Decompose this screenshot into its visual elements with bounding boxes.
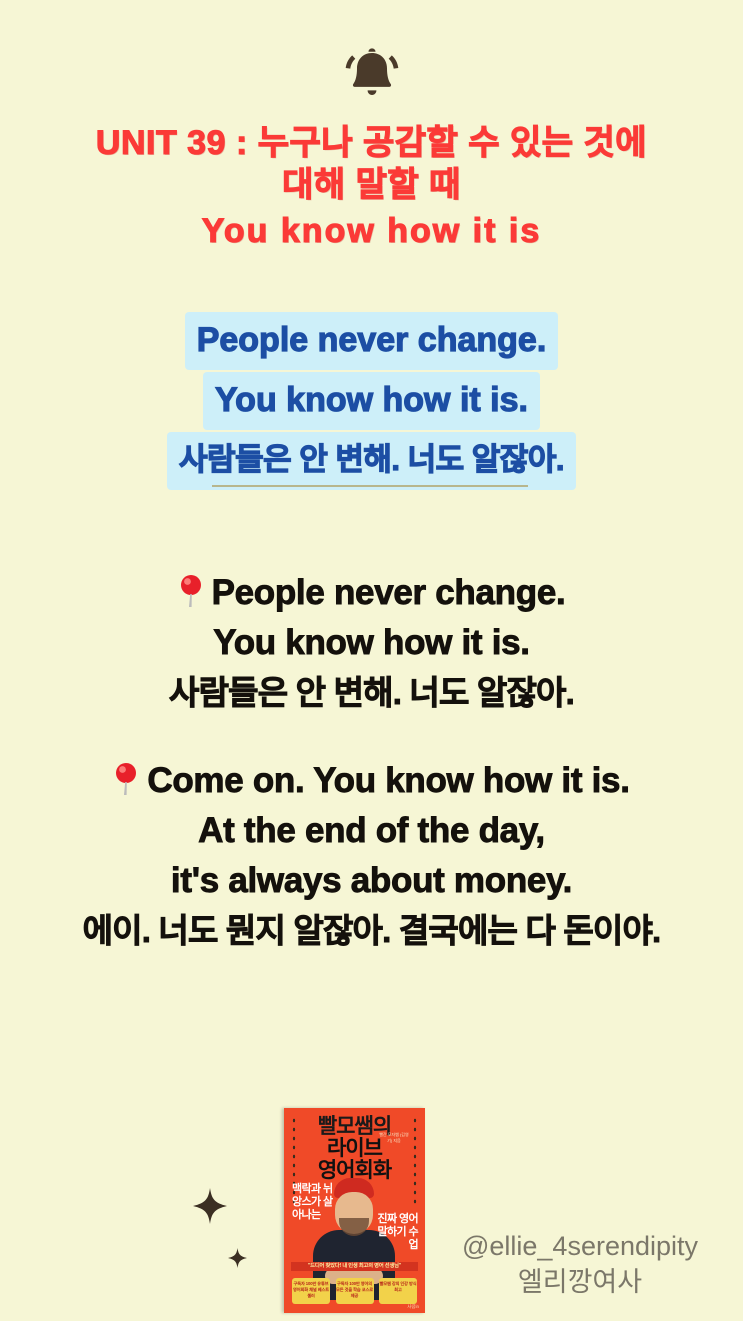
example-1-korean: 사람들은 안 변해. 너도 알잖아. [0,668,743,718]
example-1-line-2: You know how it is. [0,618,743,668]
book-title: 빨모쌤의 라이브 영어회화 [284,1116,425,1182]
book-badge: 구독자 100만 유튜브 영어회화 채널 베스트셀러 [292,1278,330,1304]
account-handle: @ellie_4serendipity 엘리깡여사 [430,1228,730,1300]
key-line-1: People never change. [0,312,743,372]
page-title: UNIT 39 : 누구나 공감할 수 있는 것에 대해 말할 때 You kn… [0,122,743,252]
story-card: UNIT 39 : 누구나 공감할 수 있는 것에 대해 말할 때 You kn… [0,0,743,1321]
book-badges: 구독자 100만 유튜브 영어회화 채널 베스트셀러 구독자 100만 영어의 … [292,1278,417,1304]
book-quote-band: "드디어 찾았다! 내 인생 최고의 영어 선생님" [291,1262,418,1271]
key-line-2: You know how it is. [0,372,743,432]
book-badge: 구독자 100만 영어의 모든 것을 학습 코스로 제공 [336,1278,374,1304]
title-line-1: UNIT 39 : 누구나 공감할 수 있는 것에 [0,122,743,164]
title-line-3: You know how it is [0,210,743,252]
book-right-text: 진짜 영어 말하기 수업 [370,1213,418,1252]
section-divider [212,485,528,487]
example-2: Come on. You know how it is. At the end … [0,756,743,956]
book-publisher: 사람in [407,1304,419,1310]
example-2-line-1: Come on. You know how it is. [0,756,743,806]
example-2-text-1: Come on. You know how it is. [147,761,629,800]
round-pushpin-icon [113,762,139,796]
title-line-2: 대해 말할 때 [0,164,743,206]
example-2-korean: 에이. 너도 뭔지 알잖아. 결국에는 다 돈이야. [0,906,743,956]
examples-section: People never change. You know how it is.… [0,568,743,994]
example-1-text-1: People never change. [212,573,566,612]
example-2-line-3: it's always about money. [0,856,743,906]
key-line-3-korean: 사람들은 안 변해. 너도 알잖아. [0,432,743,491]
round-pushpin-icon [178,574,204,608]
book-left-text: 맥락과 뉘앙스가 살아나는 [292,1183,337,1222]
example-1-line-1: People never change. [0,568,743,618]
four-point-star-icon [193,1188,227,1224]
book-subtitle: 빨간 모자쌤 (김영기) 지음 [377,1132,411,1144]
key-expression-block: People never change. You know how it is.… [0,312,743,491]
handle-nickname: 엘리깡여사 [430,1264,730,1300]
bell-icon-wrap [0,44,743,109]
book-badge: 빨모쌤 강의 인강 방식 최고 [379,1278,417,1304]
handle-account: @ellie_4serendipity [462,1231,698,1261]
book-cover-image: 빨모쌤의 라이브 영어회화 빨간 모자쌤 (김영기) 지음 맥락과 뉘앙스가 살… [284,1108,425,1313]
four-point-star-icon [228,1248,247,1268]
example-2-line-2: At the end of the day, [0,806,743,856]
example-1: People never change. You know how it is.… [0,568,743,718]
bell-icon [341,91,403,108]
